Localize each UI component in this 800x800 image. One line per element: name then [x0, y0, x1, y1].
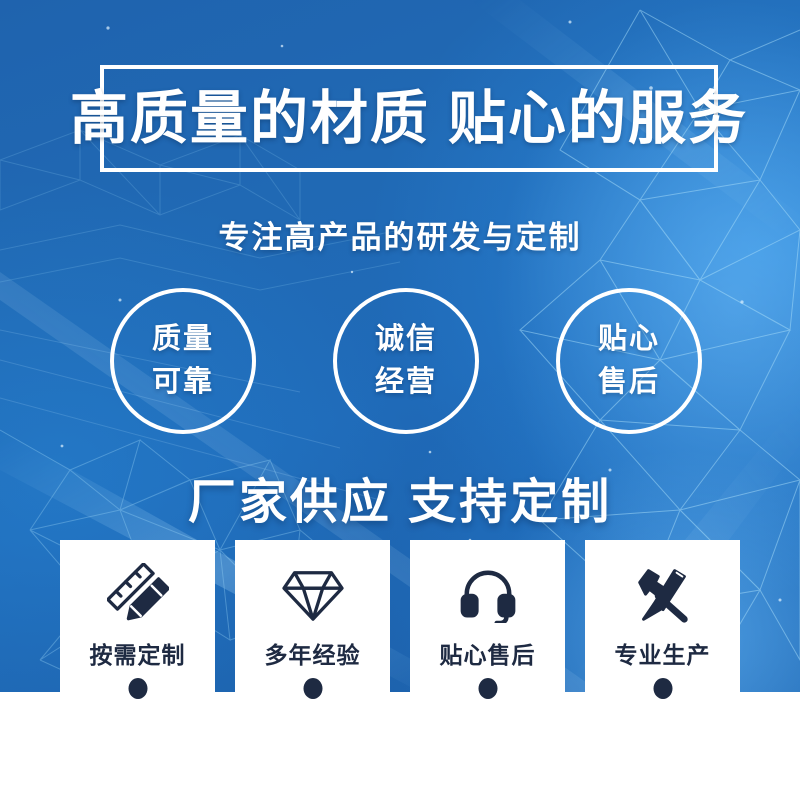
value-circle-line2: 经营 — [375, 368, 437, 397]
feature-card-experience: 多年经验 — [235, 540, 390, 692]
diamond-icon — [235, 558, 390, 630]
value-circle-row: 质量 可靠 诚信 经营 贴心 售后 — [110, 288, 702, 434]
feature-label: 多年经验 — [221, 636, 404, 670]
feature-card-custom: 按需定制 — [60, 540, 215, 692]
headline-frame: 高质量的材质 贴心的服务 — [100, 65, 718, 172]
secondary-title: 厂家供应 支持定制 — [0, 462, 800, 532]
value-circle-quality: 质量 可靠 — [110, 288, 256, 434]
feature-card-support: 贴心售后 — [410, 540, 565, 692]
feature-bullet-dot — [303, 678, 322, 699]
headset-icon — [410, 558, 565, 630]
promo-banner: 高质量的材质 贴心的服务 专注高产品的研发与定制 质量 可靠 诚信 经营 贴心 … — [0, 0, 800, 800]
page-title: 高质量的材质 贴心的服务 — [70, 90, 748, 148]
hammer-screwdriver-icon — [585, 558, 740, 630]
value-circle-line1: 贴心 — [598, 325, 660, 354]
feature-label: 贴心售后 — [396, 636, 579, 670]
feature-bullet-dot — [128, 678, 147, 699]
value-circle-aftersales: 贴心 售后 — [556, 288, 702, 434]
value-circle-line2: 可靠 — [152, 368, 214, 397]
feature-card-row: 按需定制 多年经验 — [60, 540, 740, 692]
feature-label: 专业生产 — [571, 636, 754, 670]
feature-card-production: 专业生产 — [585, 540, 740, 692]
value-circle-line1: 诚信 — [375, 325, 437, 354]
subtitle: 专注高产品的研发与定制 — [0, 212, 800, 257]
value-circle-integrity: 诚信 经营 — [333, 288, 479, 434]
pencil-ruler-icon — [60, 558, 215, 630]
feature-label: 按需定制 — [46, 636, 229, 670]
value-circle-line2: 售后 — [598, 368, 660, 397]
feature-bullet-dot — [653, 678, 672, 699]
value-circle-line1: 质量 — [152, 325, 214, 354]
feature-bullet-dot — [478, 678, 497, 699]
